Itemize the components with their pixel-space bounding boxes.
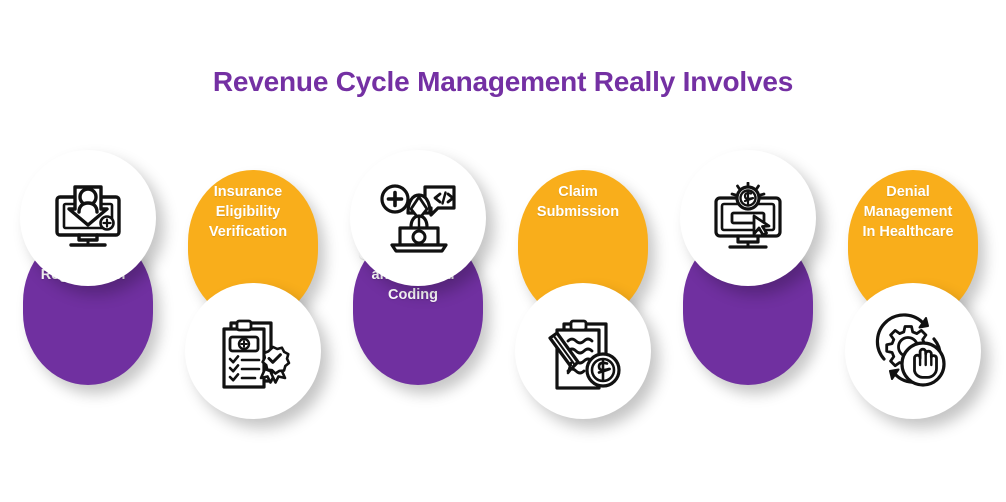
monitor-dollar-cursor-icon: [705, 175, 791, 261]
page-title: Revenue Cycle Management Really Involves: [0, 66, 1006, 98]
clipboard-pencil-dollar-icon: [540, 308, 626, 394]
step-icon-circle[interactable]: [20, 150, 156, 286]
step-label: Insurance Eligibility Verification: [183, 182, 313, 242]
step-icon-circle[interactable]: [515, 283, 651, 419]
gear-stop-hand-icon: [870, 308, 956, 394]
medical-coder-laptop-icon: [375, 175, 461, 261]
step-card-insurance-eligibility-verification[interactable]: Insurance Eligibility Verification: [183, 150, 347, 410]
step-label-line-3: Verification: [183, 222, 313, 242]
step-label-line-3: Coding: [348, 285, 478, 305]
step-label: Denial Management In Healthcare: [843, 182, 973, 242]
step-icon-circle[interactable]: [680, 150, 816, 286]
monitor-patient-intake-icon: [45, 175, 131, 261]
step-label-line-1: Claim: [513, 182, 643, 202]
clipboard-verified-badge-icon: [210, 308, 296, 394]
step-label-line-3: In Healthcare: [843, 222, 973, 242]
step-card-payment-posting[interactable]: Payment Posting: [678, 150, 842, 410]
step-label-line-2: Submission: [513, 202, 643, 222]
step-icon-circle[interactable]: [350, 150, 486, 286]
step-label-line-2: Eligibility: [183, 202, 313, 222]
step-card-denial-management-in-healthcare[interactable]: Denial Management In Healthcare: [843, 150, 1006, 410]
step-label-line-1: Insurance: [183, 182, 313, 202]
step-label: Claim Submission: [513, 182, 643, 222]
step-card-patient-registration[interactable]: Patient Registration: [18, 150, 182, 410]
step-label-line-1: Denial: [843, 182, 973, 202]
step-icon-circle[interactable]: [845, 283, 981, 419]
step-card-charge-capture-and-medical-coding[interactable]: Charge Capture and Medical Coding: [348, 150, 512, 410]
step-card-claim-submission[interactable]: Claim Submission: [513, 150, 677, 410]
step-icon-circle[interactable]: [185, 283, 321, 419]
process-steps-list: Patient Registration: [0, 150, 1006, 410]
step-label-line-2: Management: [843, 202, 973, 222]
